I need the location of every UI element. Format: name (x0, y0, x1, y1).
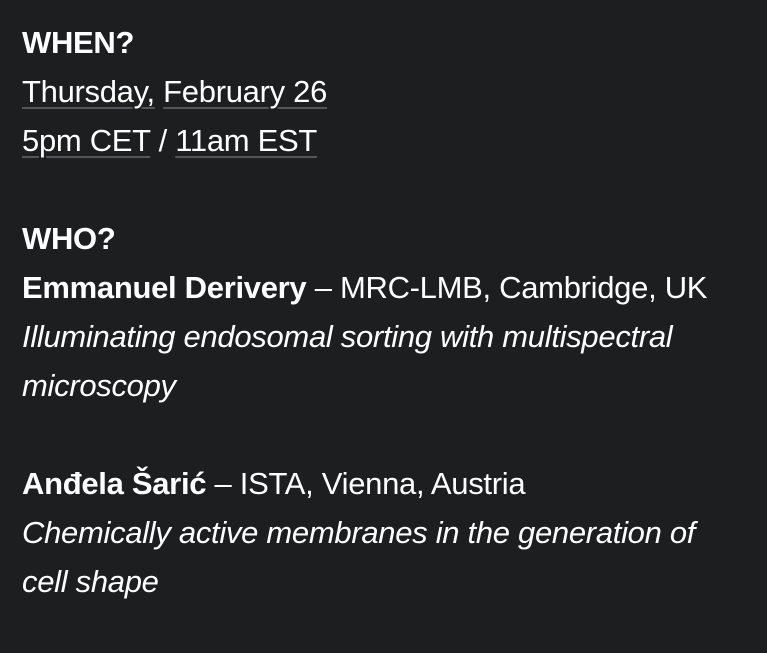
announcement-body: WHEN? Thursday, February 26 5pm CET / 11… (0, 0, 767, 653)
when-section: WHEN? Thursday, February 26 5pm CET / 11… (22, 18, 745, 165)
speaker-1-affiliation: – MRC-LMB, Cambridge, UK (315, 270, 707, 305)
when-date-line: Thursday, February 26 (22, 67, 745, 116)
speaker-spacer (22, 410, 745, 459)
speaker-2-line: Anđela Šarić – ISTA, Vienna, Austria (22, 459, 745, 508)
who-section: WHO? Emmanuel Derivery – MRC-LMB, Cambri… (22, 214, 745, 606)
speaker-2-affiliation: – ISTA, Vienna, Austria (215, 466, 526, 501)
when-time-line: 5pm CET / 11am EST (22, 116, 745, 165)
speaker-2-talk-title: Chemically active membranes in the gener… (22, 508, 745, 606)
speaker-1-name: Emmanuel Derivery (22, 270, 306, 305)
speaker-1-talk-title: Illuminating endosomal sorting with mult… (22, 312, 745, 410)
time-separator: / (159, 123, 167, 158)
speaker-2-name: Anđela Šarić (22, 466, 206, 501)
speaker-1-line: Emmanuel Derivery – MRC-LMB, Cambridge, … (22, 263, 745, 312)
section-spacer-1 (22, 165, 745, 214)
date-link-weekday[interactable]: Thursday, (22, 74, 155, 109)
time-link-cet[interactable]: 5pm CET (22, 123, 150, 158)
when-heading: WHEN? (22, 18, 745, 67)
date-link-day[interactable]: February 26 (163, 74, 327, 109)
who-heading: WHO? (22, 214, 745, 263)
time-link-est[interactable]: 11am EST (175, 123, 317, 158)
